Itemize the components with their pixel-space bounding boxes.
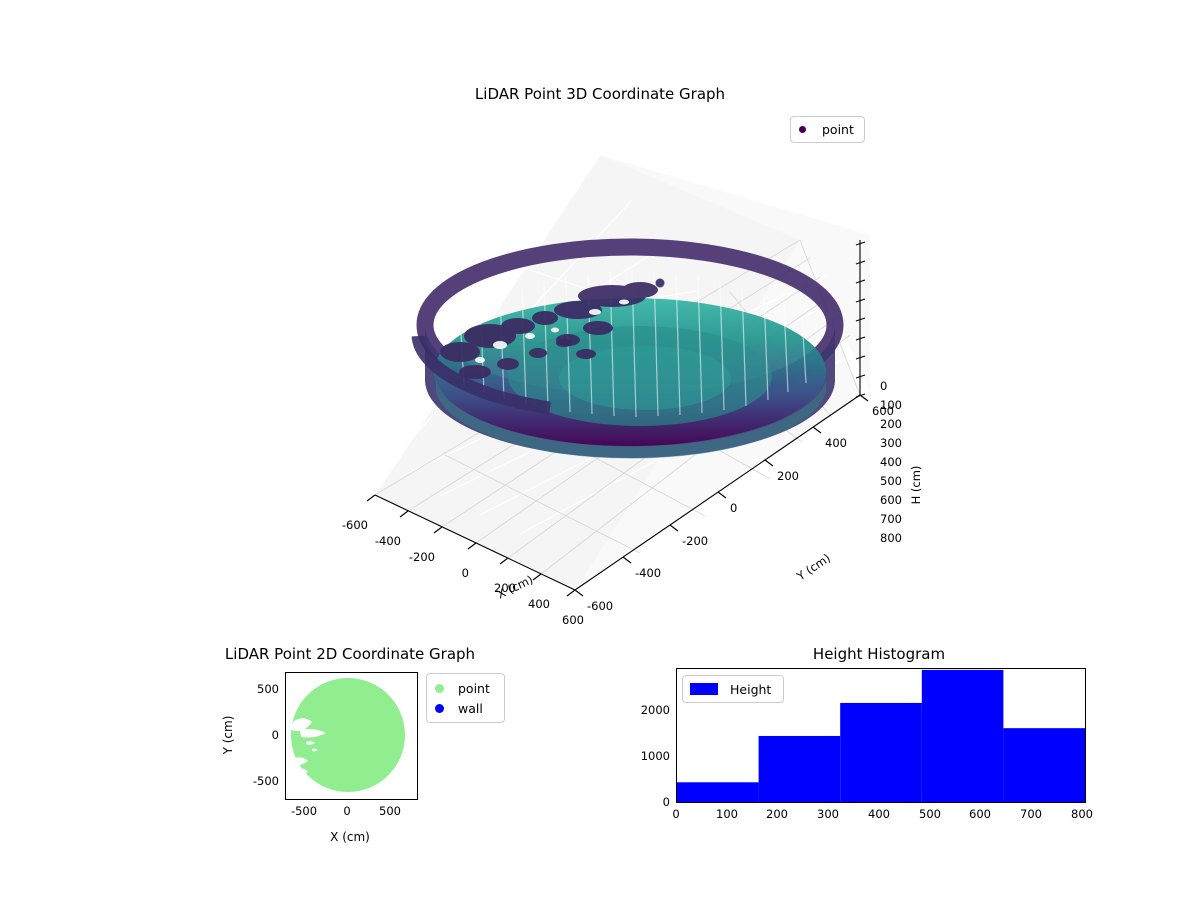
legend-label: point [822,122,854,137]
legend-label: Height [730,682,771,697]
legend-item-point[interactable]: point [799,121,854,138]
plot3d-ztick-5: 500 [880,474,902,488]
histogram-xtick-0: 0 [672,807,679,821]
plot3d-xtick-0: -600 [342,518,368,532]
plot2d-xtick-2: 500 [379,804,401,818]
plot3d-ztick-4: 400 [880,455,902,469]
plot3d-ztick-2: 200 [880,417,902,431]
legend-item-wall[interactable]: wall [435,698,490,718]
plot2d-xtick-0: -500 [291,804,317,818]
histogram-ytick-0: 0 [663,795,670,809]
histogram-bar [922,670,1004,802]
plot2d-canvas [286,673,417,799]
plot3d-xtick-1: -400 [375,534,401,548]
plot3d-title: LiDAR Point 3D Coordinate Graph [475,85,725,103]
histogram-xtick-5: 500 [919,807,941,821]
plot3d-xtick-3: 0 [462,566,469,580]
plot2d-xtick-1: 0 [343,804,350,818]
legend-item-height[interactable]: Height [690,680,771,698]
plot3d-ytick-1: -400 [635,566,661,580]
plot3d-axes: 0 100 200 300 400 500 600 700 800 H (cm)… [340,140,900,620]
point-marker-icon [799,126,806,133]
plot2d-xaxis-label: X (cm) [330,830,370,844]
plot3d-legend[interactable]: point [790,116,865,143]
plot2d-ytick-1: 0 [272,728,279,742]
plot3d-ytick-4: 200 [777,469,799,483]
plot2d-ytick-2: -500 [253,774,279,788]
histogram-xtick-4: 400 [868,807,890,821]
plot2d-point-disc [290,678,405,792]
point-marker-icon [435,684,444,693]
histogram-xtick-8: 800 [1071,807,1093,821]
histogram-xtick-2: 200 [766,807,788,821]
legend-label: wall [458,701,483,716]
histogram-xtick-6: 600 [969,807,991,821]
histogram-legend[interactable]: Height [682,675,784,703]
plot3d-ytick-0: -600 [587,599,613,613]
plot3d-xtick-2: -200 [409,550,435,564]
plot2d-legend[interactable]: point wall [426,673,505,723]
histogram-bar [1003,728,1085,802]
histogram-bar [759,736,841,802]
plot3d-ztick-0: 0 [880,379,887,393]
matplotlib-figure: LiDAR Point 3D Coordinate Graph [0,0,1200,900]
plot3d-ztick-8: 800 [880,531,902,545]
histogram-xtick-1: 100 [716,807,738,821]
plot3d-ztick-6: 600 [880,493,902,507]
plot2d-ytick-0: 500 [257,682,279,696]
plot2d-axes [285,672,418,800]
wall-marker-icon [435,704,444,713]
plot3d-canvas [340,140,900,620]
histogram-ytick-2: 2000 [641,703,670,717]
height-swatch-icon [690,683,718,695]
histogram-xtick-7: 700 [1020,807,1042,821]
histogram-bar [677,782,759,802]
legend-label: point [458,681,490,696]
plot3d-ztick-7: 700 [880,512,902,526]
plot3d-ytick-5: 400 [825,436,847,450]
plot3d-ytick-2: -200 [682,534,708,548]
plot3d-ytick-6: 600 [872,404,894,418]
plot3d-xtick-5: 400 [528,597,550,611]
plot3d-ztick-3: 300 [880,436,902,450]
legend-item-point[interactable]: point [435,678,490,698]
histogram-title: Height Histogram [813,645,945,663]
plot2d-title: LiDAR Point 2D Coordinate Graph [225,645,475,663]
histogram-xtick-3: 300 [817,807,839,821]
histogram-bar [840,703,922,802]
plot2d-yaxis-label: Y (cm) [221,716,235,755]
plot3d-xtick-6: 600 [562,613,584,627]
plot3d-zaxis-label: H (cm) [909,466,923,505]
histogram-ytick-1: 1000 [641,749,670,763]
plot3d-ytick-3: 0 [730,501,737,515]
